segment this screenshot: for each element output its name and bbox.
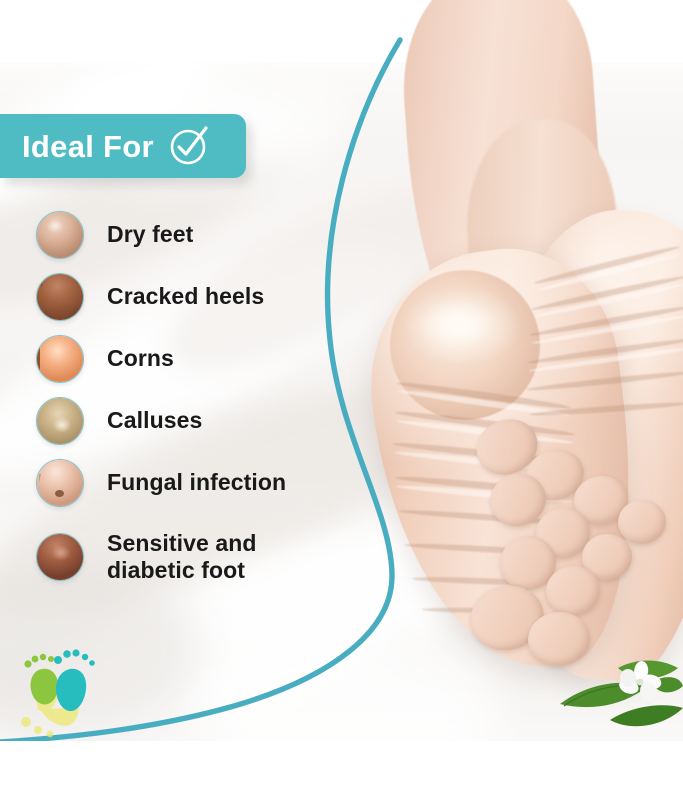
check-circle-icon xyxy=(167,124,211,168)
list-item-label: Corns xyxy=(107,345,174,372)
list-item: Sensitive and diabetic foot xyxy=(0,514,350,600)
bottom-white-band xyxy=(0,741,683,800)
list-item-label: Dry feet xyxy=(107,221,193,248)
list-item: Cracked heels xyxy=(0,266,350,328)
calluses-thumbnail xyxy=(36,397,84,445)
list-item: Calluses xyxy=(0,390,350,452)
fungal-infection-thumbnail xyxy=(36,459,84,507)
list-item-label: Calluses xyxy=(107,407,202,434)
footprints-logo xyxy=(8,638,104,738)
leaves-and-flower xyxy=(556,648,683,743)
corns-thumbnail xyxy=(36,335,84,383)
list-item-label: Cracked heels xyxy=(107,283,264,310)
dry-feet-thumbnail xyxy=(36,211,84,259)
cracked-heels-thumbnail xyxy=(36,273,84,321)
list-item-label: Fungal infection xyxy=(107,469,286,496)
bare-feet-photo xyxy=(350,0,683,745)
list-item: Fungal infection xyxy=(0,452,350,514)
list-item: Corns xyxy=(0,328,350,390)
ideal-for-list: Dry feet Cracked heels Corns Calluses xyxy=(0,204,350,600)
banner-title: Ideal For xyxy=(22,131,154,162)
list-item-label: Sensitive and diabetic foot xyxy=(107,530,257,584)
diabetic-foot-thumbnail xyxy=(36,533,84,581)
ideal-for-banner: Ideal For xyxy=(0,114,246,178)
list-item: Dry feet xyxy=(0,204,350,266)
infographic-canvas: Ideal For Dry feet Cracked heels xyxy=(0,0,683,800)
